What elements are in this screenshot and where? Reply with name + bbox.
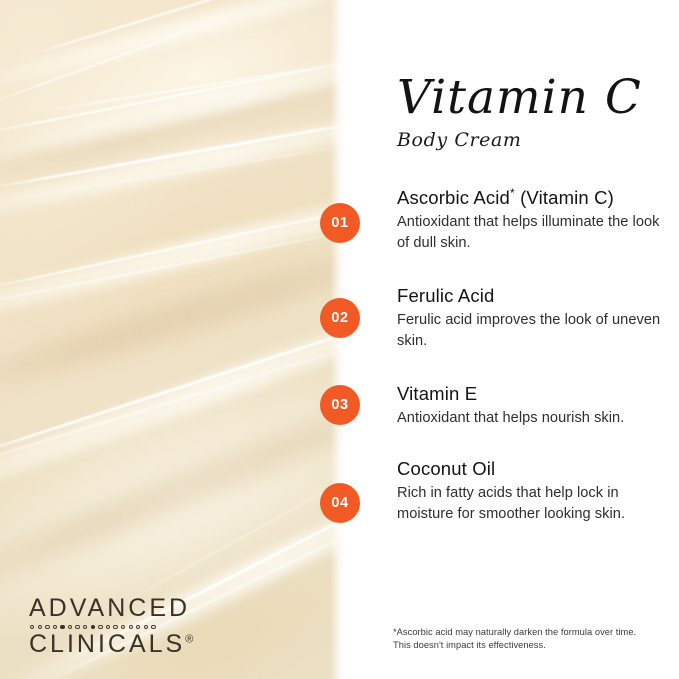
ingredient-item-ascorbic-acid: Ascorbic Acid* (Vitamin C) Antioxidant t…: [397, 186, 672, 254]
cream-ridge-glow: [0, 25, 346, 174]
brand-dot: [38, 625, 42, 629]
brand-dot: [45, 625, 49, 629]
cream-highlight-line: [0, 198, 346, 296]
cream-texture-photo: ADVANCED CLINICALS®: [0, 0, 346, 679]
ingredient-title-main: Vitamin E: [397, 383, 477, 404]
ingredient-description: Antioxidant that helps nourish skin.: [397, 408, 672, 429]
ingredient-title: Coconut Oil: [397, 457, 672, 480]
cream-band: [0, 41, 346, 458]
cream-highlight-line: [0, 56, 346, 138]
cream-highlight-line: [0, 309, 346, 466]
cream-highlight-line: [0, 115, 346, 192]
ingredient-title-suffix: (Vitamin C): [515, 187, 614, 208]
brand-dot: [136, 625, 140, 629]
cream-highlight-line: [0, 337, 346, 476]
ingredient-description: Ferulic acid improves the look of uneven…: [397, 310, 672, 351]
brand-dot: [106, 625, 110, 629]
cream-shadow: [0, 41, 346, 202]
cream-shadow: [0, 344, 346, 630]
cream-ridge-glow: [0, 161, 346, 346]
ingredient-title-main: Coconut Oil: [397, 458, 495, 479]
brand-dot-filled: [91, 625, 95, 629]
registered-trademark-icon: ®: [185, 634, 193, 646]
cream-ridge-glow: [0, 86, 346, 236]
ingredient-badge-03[interactable]: 03: [320, 385, 360, 425]
cream-ridge-glow: [0, 0, 346, 105]
ingredient-item-ferulic-acid: Ferulic Acid Ferulic acid improves the l…: [397, 284, 672, 352]
brand-dot-row: [30, 625, 193, 629]
ingredient-item-vitamin-e: Vitamin E Antioxidant that helps nourish…: [397, 382, 672, 429]
brand-dot-filled: [60, 625, 64, 629]
brand-dot: [83, 625, 87, 629]
cream-highlight-line: [0, 227, 346, 311]
brand-dot: [129, 625, 133, 629]
cream-band: [0, 0, 346, 279]
cream-highlight-line: [0, 141, 346, 205]
content-panel: Vitamin C Body Cream Ascorbic Acid* (Vit…: [346, 0, 679, 679]
brand-dot: [68, 625, 72, 629]
ingredient-badge-02[interactable]: 02: [320, 298, 360, 338]
cream-highlight-line: [108, 465, 346, 612]
brand-name-line2: CLINICALS: [29, 630, 185, 658]
cream-shadow: [0, 210, 346, 420]
ingredient-title: Ascorbic Acid* (Vitamin C): [397, 186, 672, 209]
brand-name-line2-wrap: CLINICALS®: [29, 632, 193, 657]
brand-name-line1: ADVANCED: [29, 596, 193, 621]
ingredient-description: Antioxidant that helps illuminate the lo…: [397, 212, 672, 253]
brand-logo: ADVANCED CLINICALS®: [29, 596, 193, 657]
brand-dot: [113, 625, 117, 629]
cream-highlight-line: [0, 18, 222, 108]
cream-ridge-glow: [0, 261, 346, 527]
product-infographic: ADVANCED CLINICALS®: [0, 0, 679, 679]
ingredient-title-main: Ferulic Acid: [397, 285, 494, 306]
brand-dot: [151, 625, 155, 629]
cream-highlight-line: [32, 60, 346, 113]
ingredient-badge-04[interactable]: 04: [320, 483, 360, 523]
ingredient-title: Vitamin E: [397, 382, 672, 405]
footnote-text: *Ascorbic acid may naturally darken the …: [393, 626, 643, 653]
ingredient-badge-01[interactable]: 01: [320, 203, 360, 243]
brand-dot: [75, 625, 79, 629]
brand-dot: [30, 625, 34, 629]
ingredient-title: Ferulic Acid: [397, 284, 672, 307]
ingredient-description: Rich in fatty acids that help lock in mo…: [397, 483, 672, 524]
brand-dot: [121, 625, 125, 629]
photo-soft-edge: [330, 0, 346, 679]
ingredient-title-main: Ascorbic Acid: [397, 187, 510, 208]
ingredient-list: Ascorbic Acid* (Vitamin C) Antioxidant t…: [346, 0, 679, 679]
brand-dot: [144, 625, 148, 629]
brand-dot: [98, 625, 102, 629]
cream-highlight-line: [16, 0, 304, 60]
brand-dot: [53, 625, 57, 629]
ingredient-item-coconut-oil: Coconut Oil Rich in fatty acids that hel…: [397, 457, 672, 525]
